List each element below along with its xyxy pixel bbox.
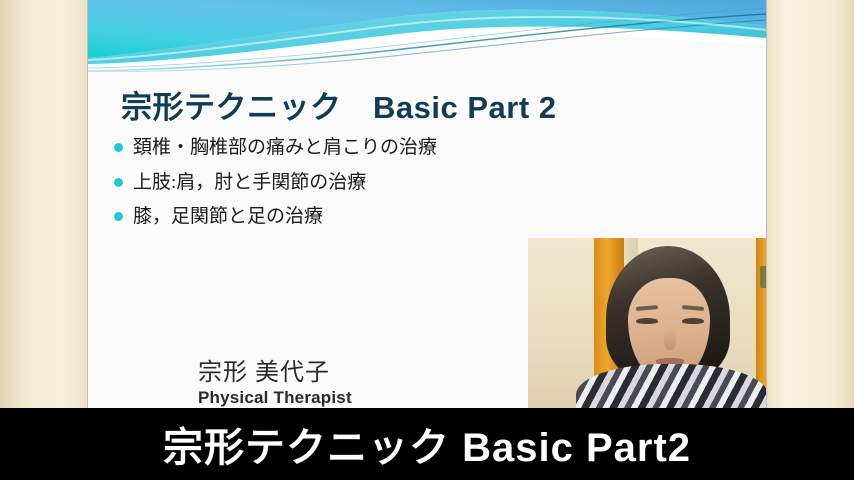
slide-title: 宗形テクニック Basic Part 2	[121, 82, 557, 127]
list-item: 膝，足関節と足の治療	[114, 203, 714, 231]
wall-left-panel	[0, 0, 90, 408]
slide-bullet-list: 頚椎・胸椎部の痛みと肩こりの治療 上肢:肩，肘と手関節の治療 膝，足関節と足の治…	[114, 134, 714, 238]
presenter-credit: 宗形 美代子 Physical Therapist	[198, 352, 352, 408]
bullet-text: 上肢:肩，肘と手関節の治療	[133, 169, 366, 197]
video-person-nose	[664, 328, 676, 350]
caption-text: 宗形テクニック Basic Part2	[163, 415, 691, 473]
video-person-eye-left	[636, 318, 658, 324]
screen: 宗形テクニック Basic Part 2 頚椎・胸椎部の痛みと肩こりの治療 上肢…	[0, 0, 854, 480]
caption-bar: 宗形テクニック Basic Part2	[0, 408, 854, 480]
bullet-dot-icon	[114, 143, 123, 152]
wall-right-panel	[762, 0, 854, 408]
list-item: 上肢:肩，肘と手関節の治療	[114, 169, 714, 197]
presenter-role: Physical Therapist	[198, 388, 352, 408]
video-door-latch	[760, 266, 766, 288]
bullet-text: 膝，足関節と足の治療	[133, 203, 323, 231]
video-person-eye-right	[682, 318, 704, 324]
bullet-dot-icon	[114, 178, 123, 187]
presenter-video-inset	[528, 238, 766, 408]
list-item: 頚椎・胸椎部の痛みと肩こりの治療	[114, 134, 714, 162]
wave-header-graphic	[88, 0, 766, 72]
presenter-name: 宗形 美代子	[198, 352, 352, 387]
presentation-slide: 宗形テクニック Basic Part 2 頚椎・胸椎部の痛みと肩こりの治療 上肢…	[88, 0, 766, 408]
bullet-text: 頚椎・胸椎部の痛みと肩こりの治療	[133, 134, 437, 162]
bullet-dot-icon	[114, 212, 123, 221]
